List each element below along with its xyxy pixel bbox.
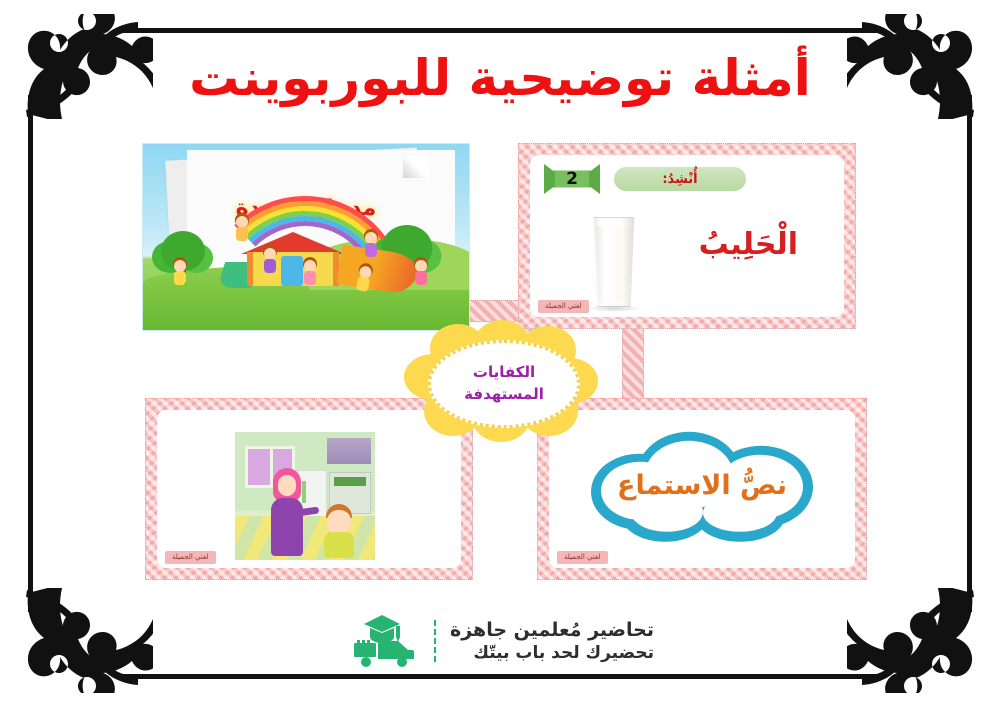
- slide-footer-label: لغتي الجميلة: [538, 300, 589, 313]
- child-figure: [235, 216, 248, 242]
- child-figure: [414, 260, 427, 286]
- milk-word: الْحَلِيبُ: [699, 227, 798, 262]
- child-figure: [263, 248, 276, 274]
- poster-canvas: أمثلة توضيحية للبوربوينت مدخل الوحدة: [0, 0, 1000, 707]
- mother-figure: [269, 468, 305, 556]
- anshid-label-pill: أُنْشِدُ:: [614, 167, 746, 191]
- slide-number-badge: 2: [544, 164, 600, 194]
- competencies-line-1: الكفايات: [473, 362, 535, 384]
- brand-logo: تحاضير مُعلمين جاهزة تحضيرك لحد باب بيتّ…: [0, 609, 1000, 673]
- child-figure: [173, 260, 186, 286]
- slide-number-value: 2: [555, 164, 589, 194]
- delivery-truck-icon: [346, 613, 420, 669]
- milk-glass-icon: [592, 217, 636, 307]
- listening-text-heading: نصُّ الاستماع: [591, 470, 813, 501]
- frame-right-line: [967, 95, 972, 612]
- playhouse: [247, 232, 339, 286]
- logo-divider: [434, 620, 436, 662]
- center-flower-node: الكفايات المستهدفة: [400, 320, 600, 442]
- slide-milk-song[interactable]: 2 أُنْشِدُ: الْحَلِيبُ لغتي الجميلة: [518, 143, 856, 329]
- child-figure: [303, 260, 316, 286]
- kitchen-cabinet: [327, 438, 371, 464]
- slide-unit-intro[interactable]: مدخل الوحدة: [142, 143, 470, 331]
- boy-figure: [323, 504, 355, 558]
- frame-left-line: [28, 95, 33, 612]
- frame-bottom-line: [120, 674, 880, 679]
- slide-footer-label: لغتي الجميلة: [165, 551, 216, 564]
- brand-tagline-primary: تحاضير مُعلمين جاهزة: [450, 618, 654, 643]
- flower-core-label: الكفايات المستهدفة: [428, 340, 580, 428]
- speech-cloud-icon: نصُّ الاستماع: [591, 432, 813, 542]
- competencies-line-2: المستهدفة: [464, 384, 544, 406]
- frame-top-line: [120, 28, 880, 33]
- kitchen-illustration: [235, 432, 375, 560]
- slide-footer-label: لغتي الجميلة: [557, 551, 608, 564]
- paper-curl-icon: [403, 156, 429, 178]
- brand-tagline-secondary: تحضيرك لحد باب بيتّك: [450, 642, 654, 664]
- brand-logo-text: تحاضير مُعلمين جاهزة تحضيرك لحد باب بيتّ…: [450, 618, 654, 665]
- child-figure: [364, 232, 377, 258]
- playground-illustration: [143, 238, 469, 330]
- page-title: أمثلة توضيحية للبوربوينت: [0, 52, 1000, 105]
